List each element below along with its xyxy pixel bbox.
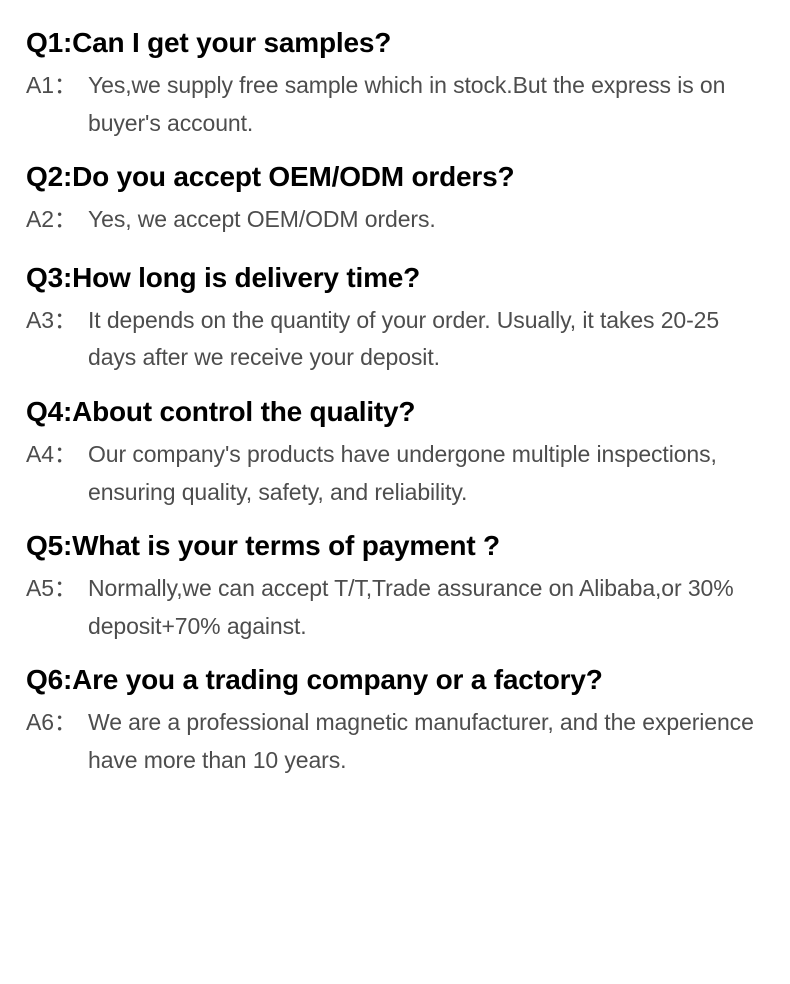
- faq-question: Q4:About control the quality?: [26, 395, 766, 429]
- faq-answer-label: A5：: [26, 570, 88, 607]
- faq-answer-label: A3：: [26, 302, 88, 339]
- faq-item: Q1:Can I get your samples? A1： Yes,we su…: [26, 26, 766, 142]
- faq-item: Q4:About control the quality? A4： Our co…: [26, 395, 766, 511]
- faq-question-text: Do you accept OEM/ODM orders?: [72, 161, 514, 192]
- faq-answer-label: A2：: [26, 201, 88, 238]
- faq-question-text: Can I get your samples?: [72, 27, 391, 58]
- faq-question: Q2:Do you accept OEM/ODM orders?: [26, 160, 766, 194]
- faq-answer-label: A6：: [26, 704, 88, 741]
- faq-answer: A2： Yes, we accept OEM/ODM orders.: [26, 201, 766, 238]
- faq-answer: A1： Yes,we supply free sample which in s…: [26, 67, 766, 142]
- faq-item: Q6:Are you a trading company or a factor…: [26, 663, 766, 779]
- faq-question: Q5:What is your terms of payment ?: [26, 529, 766, 563]
- faq-answer: A4： Our company's products have undergon…: [26, 436, 766, 511]
- faq-answer-text: It depends on the quantity of your order…: [88, 302, 760, 377]
- faq-answer-label: A1：: [26, 67, 88, 104]
- faq-answer: A3： It depends on the quantity of your o…: [26, 302, 766, 377]
- faq-question-text: Are you a trading company or a factory?: [72, 664, 603, 695]
- faq-question-text: What is your terms of payment ?: [72, 530, 500, 561]
- faq-answer-label: A4：: [26, 436, 88, 473]
- faq-question-label: Q2:: [26, 161, 72, 192]
- faq-question-text: How long is delivery time?: [72, 262, 420, 293]
- faq-answer-text: Yes,we supply free sample which in stock…: [88, 67, 760, 142]
- faq-question-label: Q1:: [26, 27, 72, 58]
- faq-answer-text: Yes, we accept OEM/ODM orders.: [88, 201, 760, 238]
- faq-answer-text: We are a professional magnetic manufactu…: [88, 704, 760, 779]
- faq-question: Q1:Can I get your samples?: [26, 26, 766, 60]
- faq-item: Q5:What is your terms of payment ? A5： N…: [26, 529, 766, 645]
- faq-question-label: Q3:: [26, 262, 72, 293]
- faq-answer: A5： Normally,we can accept T/T,Trade ass…: [26, 570, 766, 645]
- faq-item: Q3:How long is delivery time? A3： It dep…: [26, 261, 766, 377]
- faq-question: Q6:Are you a trading company or a factor…: [26, 663, 766, 697]
- faq-answer-text: Our company's products have undergone mu…: [88, 436, 760, 511]
- faq-question-label: Q5:: [26, 530, 72, 561]
- faq-question-text: About control the quality?: [72, 396, 415, 427]
- faq-question-label: Q6:: [26, 664, 72, 695]
- faq-answer: A6： We are a professional magnetic manuf…: [26, 704, 766, 779]
- faq-question: Q3:How long is delivery time?: [26, 261, 766, 295]
- faq-question-label: Q4:: [26, 396, 72, 427]
- faq-answer-text: Normally,we can accept T/T,Trade assuran…: [88, 570, 760, 645]
- faq-item: Q2:Do you accept OEM/ODM orders? A2： Yes…: [26, 160, 766, 239]
- faq-document: Q1:Can I get your samples? A1： Yes,we su…: [0, 0, 790, 984]
